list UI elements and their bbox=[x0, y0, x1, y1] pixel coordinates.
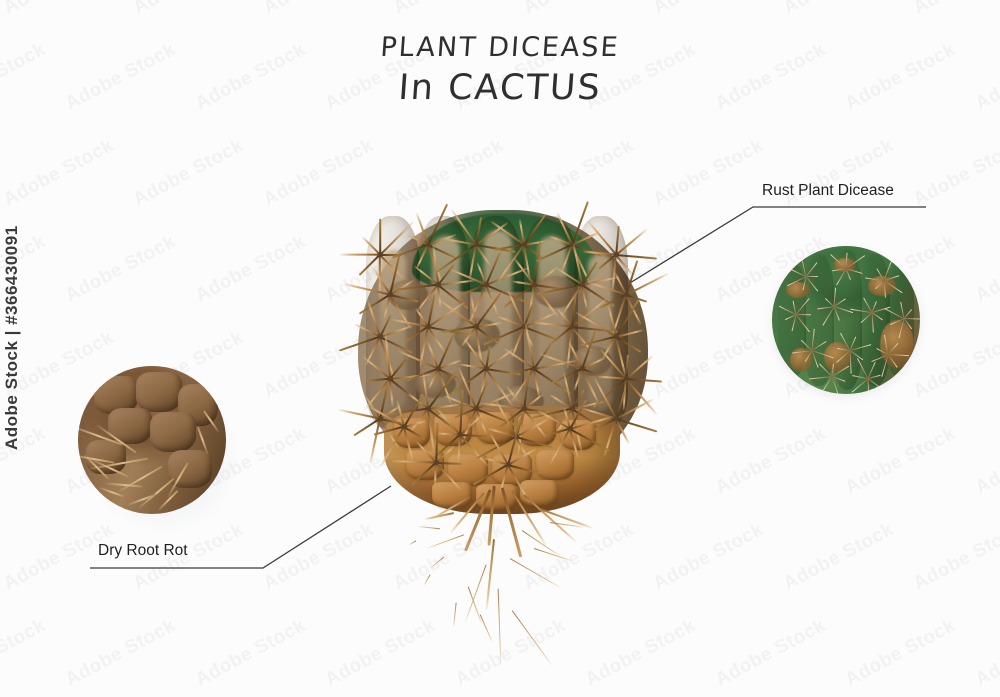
watermark-tile: Adobe Stock bbox=[910, 327, 1000, 404]
cactus-areole bbox=[434, 460, 439, 465]
cactus-areole bbox=[522, 242, 527, 247]
watermark-tile: Adobe Stock bbox=[62, 231, 180, 308]
rot-chunk bbox=[150, 412, 196, 452]
watermark-tile: Adobe Stock bbox=[910, 135, 1000, 212]
cactus-areole bbox=[474, 406, 479, 411]
cactus-areole bbox=[624, 376, 629, 381]
watermark-tile: Adobe Stock bbox=[0, 135, 118, 212]
cactus-areole bbox=[474, 324, 479, 329]
watermark-tile: Adobe Stock bbox=[62, 615, 180, 692]
cactus-areole bbox=[614, 252, 619, 257]
root-strand bbox=[540, 508, 593, 529]
watermark-tile: Adobe Stock bbox=[0, 615, 50, 692]
root-strand bbox=[453, 603, 457, 627]
watermark-tile: Adobe Stock bbox=[972, 231, 1000, 308]
root-strand bbox=[500, 487, 522, 557]
root-strand bbox=[522, 530, 561, 557]
watermark-tile: Adobe Stock bbox=[192, 231, 310, 308]
cactus-areole bbox=[522, 406, 527, 411]
root-strand bbox=[423, 574, 430, 585]
root-strand bbox=[464, 564, 486, 623]
watermark-tile: Adobe Stock bbox=[910, 0, 1000, 19]
cactus-body bbox=[358, 210, 648, 500]
cactus-areole bbox=[614, 334, 619, 339]
watermark-tile: Adobe Stock bbox=[910, 519, 1000, 596]
watermark-tile: Adobe Stock bbox=[192, 615, 310, 692]
inset-rust-disease bbox=[772, 246, 920, 394]
watermark-tile: Adobe Stock bbox=[390, 0, 508, 19]
cactus-areole bbox=[378, 252, 383, 257]
watermark-tile: Adobe Stock bbox=[780, 0, 898, 19]
title-line-2: In CACTUS bbox=[0, 71, 1000, 106]
watermark-tile: Adobe Stock bbox=[842, 615, 960, 692]
root-strand bbox=[497, 589, 501, 665]
cactus-areole bbox=[458, 432, 463, 437]
root-strand bbox=[510, 558, 561, 588]
cactus-spine bbox=[370, 419, 381, 464]
watermark-tile: Adobe Stock bbox=[130, 0, 248, 19]
watermark-tile: Adobe Stock bbox=[972, 423, 1000, 500]
watermark-tile: Adobe Stock bbox=[520, 0, 638, 19]
watermark-tile: Adobe Stock bbox=[712, 615, 830, 692]
cactus-areole bbox=[484, 366, 489, 371]
cactus-areole bbox=[570, 406, 575, 411]
page-title: PLANT DICEASE In CACTUS bbox=[0, 34, 1000, 106]
watermark-tile: Adobe Stock bbox=[650, 135, 768, 212]
root-strand bbox=[485, 539, 495, 611]
poster-canvas: Adobe StockAdobe StockAdobe StockAdobe S… bbox=[0, 0, 1000, 697]
cactus-areole bbox=[426, 242, 431, 247]
watermark-tile: Adobe Stock bbox=[842, 423, 960, 500]
adobe-stock-watermark-text: Adobe Stock | #366430091 bbox=[2, 225, 22, 450]
cactus-areole bbox=[436, 366, 441, 371]
cactus-areole bbox=[388, 292, 393, 297]
watermark-tile: Adobe Stock bbox=[0, 0, 118, 19]
cactus-areole bbox=[474, 242, 479, 247]
cactus-areole bbox=[570, 324, 575, 329]
watermark-tile: Adobe Stock bbox=[130, 135, 248, 212]
cactus-areole bbox=[484, 282, 489, 287]
cactus-areole bbox=[532, 282, 537, 287]
cactus-areole bbox=[506, 462, 511, 467]
main-cactus-specimen bbox=[336, 196, 666, 666]
exposed-root-system bbox=[344, 478, 664, 668]
cactus-spine bbox=[379, 219, 381, 255]
root-strand bbox=[479, 614, 492, 642]
watermark-tile: Adobe Stock bbox=[972, 615, 1000, 692]
cactus-areole bbox=[580, 366, 585, 371]
title-line-1: PLANT DICEASE bbox=[0, 34, 1000, 61]
cactus-areole bbox=[568, 426, 573, 431]
cactus-areole bbox=[436, 282, 441, 287]
root-strand bbox=[511, 610, 552, 666]
cactus-areole bbox=[580, 282, 585, 287]
cactus-areole bbox=[378, 334, 383, 339]
cactus-areole bbox=[378, 416, 383, 421]
watermark-tile: Adobe Stock bbox=[650, 519, 768, 596]
root-strand bbox=[418, 526, 440, 530]
watermark-tile: Adobe Stock bbox=[650, 0, 768, 19]
watermark-tile: Adobe Stock bbox=[650, 327, 768, 404]
root-strand bbox=[430, 556, 445, 569]
cactus-areole bbox=[614, 416, 619, 421]
watermark-tile: Adobe Stock bbox=[780, 519, 898, 596]
watermark-tile: Adobe Stock bbox=[712, 423, 830, 500]
root-strand bbox=[426, 534, 464, 549]
callout-label-rot: Dry Root Rot bbox=[98, 542, 188, 560]
callout-label-rust: Rust Plant Dicease bbox=[762, 182, 894, 200]
cactus-areole bbox=[624, 292, 629, 297]
watermark-tile: Adobe Stock bbox=[260, 0, 378, 19]
cactus-spine bbox=[340, 254, 380, 256]
cactus-areole bbox=[388, 376, 393, 381]
cactus-areole bbox=[532, 366, 537, 371]
rot-chunk bbox=[136, 372, 182, 412]
root-strand bbox=[409, 540, 417, 545]
cactus-areole bbox=[402, 424, 407, 429]
cactus-areole bbox=[426, 406, 431, 411]
inset-dry-root-rot bbox=[78, 366, 226, 514]
cactus-areole bbox=[426, 324, 431, 329]
